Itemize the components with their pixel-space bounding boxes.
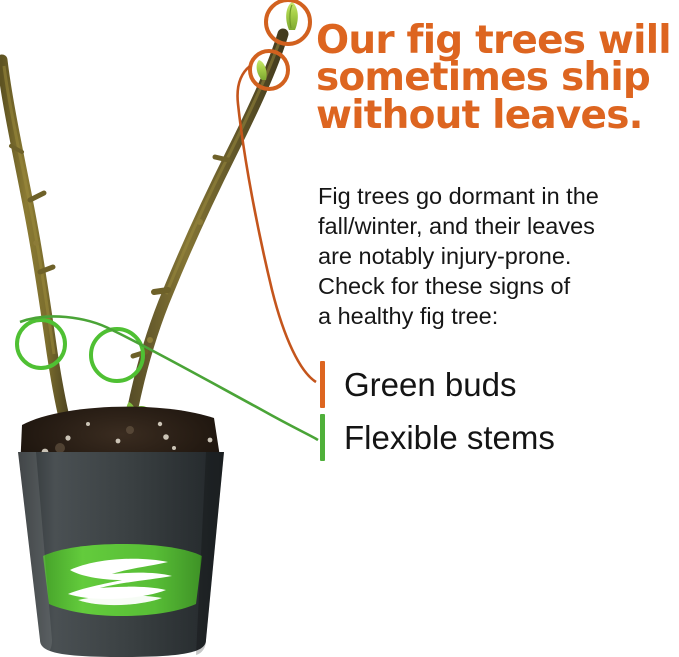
page-title: Our fig trees will sometimes ship withou… [316,22,679,134]
stem-left [2,60,70,440]
body-paragraph-dormancy: Fig trees go dormant in the fall/winter,… [318,182,670,272]
list-item-label: Flexible stems [344,421,555,454]
green-bar-marker [320,414,325,461]
orange-bar-marker [320,361,325,408]
stem-right [122,34,283,462]
list-item-label: Green buds [344,368,516,401]
infographic-canvas: Our fig trees will sometimes ship withou… [0,0,679,657]
list-item-green-buds: Green buds [320,358,670,411]
green-bud-tip [286,2,298,30]
list-item-flexible-stems: Flexible stems [320,411,670,464]
plant-pot [18,452,224,657]
signs-list: Green buds Flexible stems [320,358,670,464]
body-paragraph-check: Check for these signs of a healthy fig t… [318,272,670,332]
green-circle-stem-left [17,320,65,368]
green-bud-lower [257,60,267,80]
